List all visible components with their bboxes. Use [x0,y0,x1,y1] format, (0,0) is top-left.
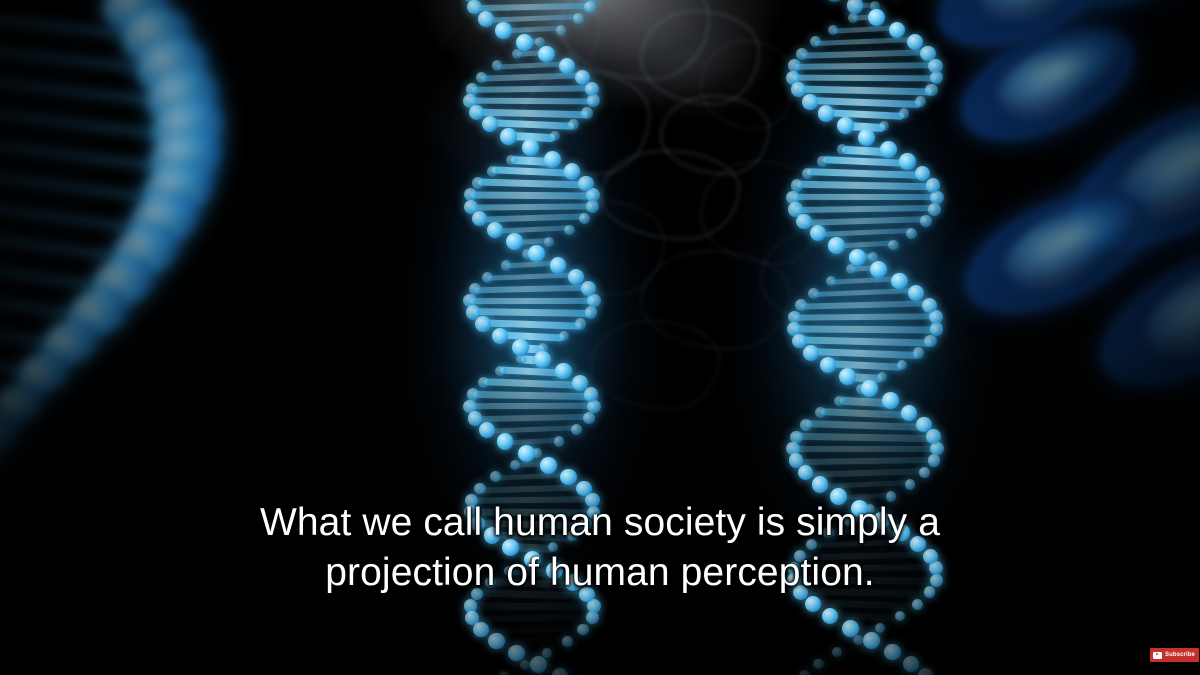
blurred-capsules-right [900,0,1200,400]
dna-helix-center [432,0,632,675]
subscribe-watermark-button[interactable]: Subscribe [1150,648,1199,662]
video-frame: What we call human society is simply a p… [0,0,1200,675]
youtube-play-icon [1153,652,1162,659]
subscribe-label: Subscribe [1165,652,1195,658]
dna-helix-left-blurred [0,0,280,675]
